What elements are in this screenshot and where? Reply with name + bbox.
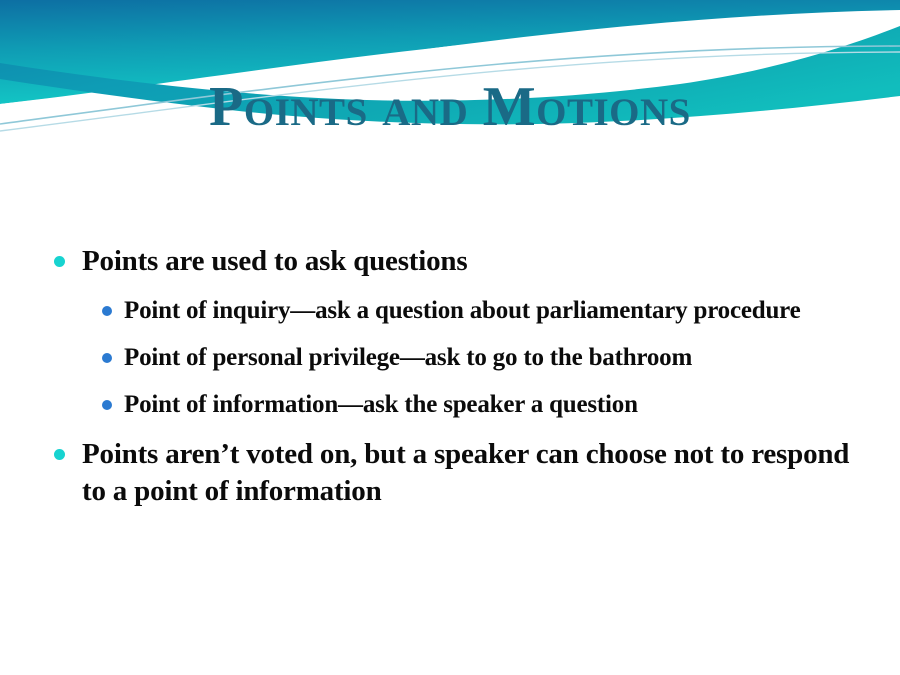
bullet-text: Point of personal privilege—ask to go to…	[124, 344, 692, 371]
list-item: Point of information—ask the speaker a q…	[92, 389, 874, 421]
slide: Points and Motions Points are used to as…	[0, 0, 900, 675]
list-item: Points are used to ask questions	[44, 243, 874, 281]
bullet-dot-icon	[102, 353, 112, 363]
list-item: Points aren’t voted on, but a speaker ca…	[44, 436, 874, 511]
bullet-dot-icon	[102, 400, 112, 410]
bullet-dot-icon	[54, 256, 65, 267]
bullet-text: Point of inquiry—ask a question about pa…	[124, 297, 801, 324]
bullet-text: Points aren’t voted on, but a speaker ca…	[82, 438, 849, 508]
page-title: Points and Motions	[0, 78, 900, 136]
slide-body: Points are used to ask questions Point o…	[44, 243, 874, 517]
list-item: Point of personal privilege—ask to go to…	[92, 342, 874, 374]
bullet-text: Points are used to ask questions	[82, 245, 467, 277]
bullet-list-level2: Point of inquiry—ask a question about pa…	[44, 295, 874, 421]
bullet-list-level1: Points are used to ask questions Point o…	[44, 243, 874, 511]
list-item: Point of inquiry—ask a question about pa…	[92, 295, 874, 327]
title-block: Points and Motions	[0, 78, 900, 136]
bullet-dot-icon	[102, 306, 112, 316]
bullet-text: Point of information—ask the speaker a q…	[124, 391, 638, 418]
nested-bullet-group: Point of inquiry—ask a question about pa…	[44, 295, 874, 421]
bullet-dot-icon	[54, 449, 65, 460]
